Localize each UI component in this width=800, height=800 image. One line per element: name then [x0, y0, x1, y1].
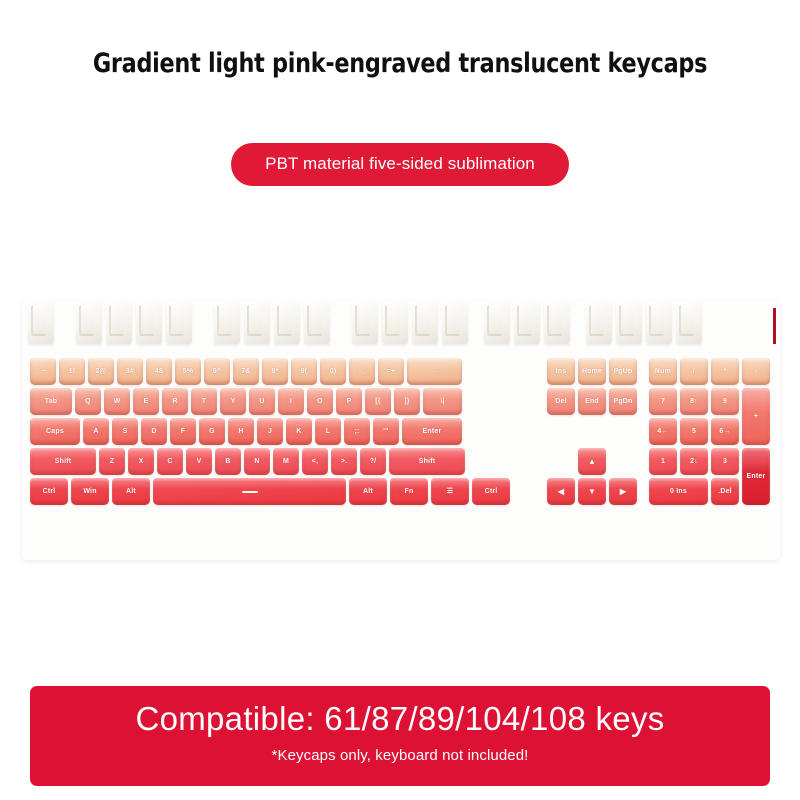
fn-group-f9-f12 [352, 302, 472, 344]
alpha-block: `~ 1! 2@ 3# 4$ 5% 6^ 7& 8* 9( 0) -_ =+ ←… [30, 358, 513, 508]
key-b: B [215, 448, 241, 475]
compatibility-note: *Keycaps only, keyboard not included! [30, 747, 770, 764]
fn-group-esc [28, 302, 58, 344]
fn-key-blank [136, 302, 162, 344]
key-m: M [273, 448, 299, 475]
key-numpad-multiply: * [711, 358, 739, 385]
key-alt-right: Alt [349, 478, 387, 505]
numpad-row-3: 4← 5 6→ [649, 418, 742, 445]
fn-group-f1-f4 [76, 302, 196, 344]
key-row-number: `~ 1! 2@ 3# 4$ 5% 6^ 7& 8* 9( 0) -_ =+ ← [30, 358, 513, 385]
key-p: P [336, 388, 362, 415]
key-d: D [141, 418, 167, 445]
key-f: F [170, 418, 196, 445]
key-comma: <, [302, 448, 328, 475]
key-pageup: PgUp [609, 358, 637, 385]
arrow-right-icon: ▶ [620, 488, 626, 496]
space-bar-glyph [242, 491, 258, 493]
key-numpad-8: 8↑ [680, 388, 708, 415]
key-a: A [83, 418, 109, 445]
key-1: 1! [59, 358, 85, 385]
arrow-down-icon: ▼ [588, 488, 596, 496]
numpad-lower-block: 1 2↓ 3 0 Ins .Del [649, 448, 742, 508]
key-bracket-right: ]} [394, 388, 420, 415]
key-numpad-6: 6→ [711, 418, 739, 445]
key-0: 0) [320, 358, 346, 385]
key-numpad-plus: + [742, 388, 770, 445]
key-row-qwerty: Tab Q W E R T Y U I O P [{ ]} \| [30, 388, 513, 415]
fn-key-blank [586, 302, 612, 344]
arrow-down-key: ▼ [578, 478, 606, 505]
key-backslash: \| [423, 388, 462, 415]
numpad-enter-block: Enter [742, 448, 773, 508]
key-quote: '" [373, 418, 399, 445]
key-2: 2@ [88, 358, 114, 385]
numpad-row-1: Num / * - [649, 358, 773, 385]
key-numlock: Num [649, 358, 677, 385]
key-shift-right: Shift [389, 448, 465, 475]
key-fn: Fn [390, 478, 428, 505]
key-5: 5% [175, 358, 201, 385]
key-menu: ☰ [431, 478, 469, 505]
fn-key-blank [28, 302, 54, 344]
key-8: 8* [262, 358, 288, 385]
arrow-row-wrap: ◀ ▼ ▶ [547, 478, 640, 508]
key-row-shift: Shift Z X C V B N M <, >. ?/ Shift [30, 448, 513, 475]
fn-key-blank [676, 302, 702, 344]
key-alt-left: Alt [112, 478, 150, 505]
key-numpad-9: 9 [711, 388, 739, 415]
fn-key-blank [544, 302, 570, 344]
arrow-left-key: ◀ [547, 478, 575, 505]
fn-key-blank [382, 302, 408, 344]
key-capslock: Caps [30, 418, 80, 445]
key-n: N [244, 448, 270, 475]
key-minus: -_ [349, 358, 375, 385]
key-x: X [128, 448, 154, 475]
fn-key-blank [166, 302, 192, 344]
key-i: I [278, 388, 304, 415]
key-period: >. [331, 448, 357, 475]
key-g: G [199, 418, 225, 445]
red-edge-line [773, 308, 776, 344]
numpad-digit-block: 7 8↑ 9 4← 5 6→ [649, 388, 742, 448]
key-equals: =+ [378, 358, 404, 385]
fn-key-blank [484, 302, 510, 344]
numpad-row-2: 7 8↑ 9 [649, 388, 742, 415]
key-slash: ?/ [360, 448, 386, 475]
arrow-left-icon: ◀ [558, 488, 564, 496]
fn-group-numpad [586, 302, 706, 344]
key-delete: Del [547, 388, 575, 415]
key-u: U [249, 388, 275, 415]
key-y: Y [220, 388, 246, 415]
key-r: R [162, 388, 188, 415]
key-numpad-4: 4← [649, 418, 677, 445]
product-banner-page: Gradient light pink-engraved translucent… [0, 0, 800, 800]
fn-key-blank [244, 302, 270, 344]
fn-group-nav [484, 302, 574, 344]
fn-key-blank [214, 302, 240, 344]
fn-key-blank [646, 302, 672, 344]
page-title: Gradient light pink-engraved translucent… [32, 48, 768, 79]
key-row-home: Caps A S D F G H J K L ;: '" Enter [30, 418, 513, 445]
key-home: Home [578, 358, 606, 385]
fn-key-blank [76, 302, 102, 344]
fn-key-blank [442, 302, 468, 344]
numpad-plus-block: + [742, 388, 773, 448]
key-tab: Tab [30, 388, 72, 415]
arrow-row: ◀ ▼ ▶ [547, 478, 640, 505]
numpad-row-4: 1 2↓ 3 [649, 448, 742, 475]
key-e: E [133, 388, 159, 415]
key-numpad-3: 3 [711, 448, 739, 475]
fn-group-f5-f8 [214, 302, 334, 344]
key-w: W [104, 388, 130, 415]
fn-key-blank [616, 302, 642, 344]
key-numpad-5: 5 [680, 418, 708, 445]
key-numpad-7: 7 [649, 388, 677, 415]
key-backspace: ← [407, 358, 462, 385]
compatibility-banner: Compatible: 61/87/89/104/108 keys *Keyca… [30, 686, 770, 786]
key-numpad-minus: - [742, 358, 770, 385]
material-badge: PBT material five-sided sublimation [231, 143, 569, 186]
nav-row-bottom: Del End PgDn [547, 388, 640, 415]
key-v: V [186, 448, 212, 475]
arrow-right-key: ▶ [609, 478, 637, 505]
nav-row-top: Ins Home PgUp [547, 358, 640, 385]
key-ctrl-right: Ctrl [472, 478, 510, 505]
key-h: H [228, 418, 254, 445]
key-bracket-left: [{ [365, 388, 391, 415]
key-4: 4$ [146, 358, 172, 385]
key-numpad-enter: Enter [742, 448, 770, 505]
key-pagedown: PgDn [609, 388, 637, 415]
fn-key-blank [304, 302, 330, 344]
key-end: End [578, 388, 606, 415]
key-t: T [191, 388, 217, 415]
key-k: K [286, 418, 312, 445]
key-win-left: Win [71, 478, 109, 505]
key-numpad-divide: / [680, 358, 708, 385]
function-row [28, 302, 776, 354]
fn-key-blank [106, 302, 132, 344]
key-3: 3# [117, 358, 143, 385]
fn-key-blank [412, 302, 438, 344]
key-ctrl-left: Ctrl [30, 478, 68, 505]
key-6: 6^ [204, 358, 230, 385]
key-space [153, 478, 346, 505]
key-insert: Ins [547, 358, 575, 385]
fn-key-blank [514, 302, 540, 344]
key-shift-left: Shift [30, 448, 96, 475]
compatibility-title: Compatible: 61/87/89/104/108 keys [30, 700, 770, 738]
nav-cluster: Ins Home PgUp Del End PgDn [547, 358, 640, 418]
key-l: L [315, 418, 341, 445]
key-7: 7& [233, 358, 259, 385]
key-numpad-0: 0 Ins [649, 478, 708, 505]
arrow-key-up-wrap: ▲ [578, 448, 609, 475]
key-enter: Enter [402, 418, 462, 445]
badge-container: PBT material five-sided sublimation [0, 143, 800, 186]
arrow-up-key: ▲ [578, 448, 606, 475]
key-j: J [257, 418, 283, 445]
numpad-cluster: Num / * - 7 8↑ 9 4← 5 6→ [649, 358, 773, 508]
key-backtick: `~ [30, 358, 56, 385]
key-row-bottom: Ctrl Win Alt Alt Fn ☰ Ctrl [30, 478, 513, 505]
key-numpad-1: 1 [649, 448, 677, 475]
key-9: 9( [291, 358, 317, 385]
key-c: C [157, 448, 183, 475]
key-q: Q [75, 388, 101, 415]
key-numpad-decimal: .Del [711, 478, 739, 505]
fn-key-blank [274, 302, 300, 344]
key-numpad-2: 2↓ [680, 448, 708, 475]
key-s: S [112, 418, 138, 445]
keyboard-image: `~ 1! 2@ 3# 4$ 5% 6^ 7& 8* 9( 0) -_ =+ ←… [22, 300, 780, 560]
arrow-up-icon: ▲ [588, 458, 596, 466]
key-z: Z [99, 448, 125, 475]
fn-key-blank [352, 302, 378, 344]
key-o: O [307, 388, 333, 415]
key-semicolon: ;: [344, 418, 370, 445]
numpad-row-5: 0 Ins .Del [649, 478, 742, 505]
